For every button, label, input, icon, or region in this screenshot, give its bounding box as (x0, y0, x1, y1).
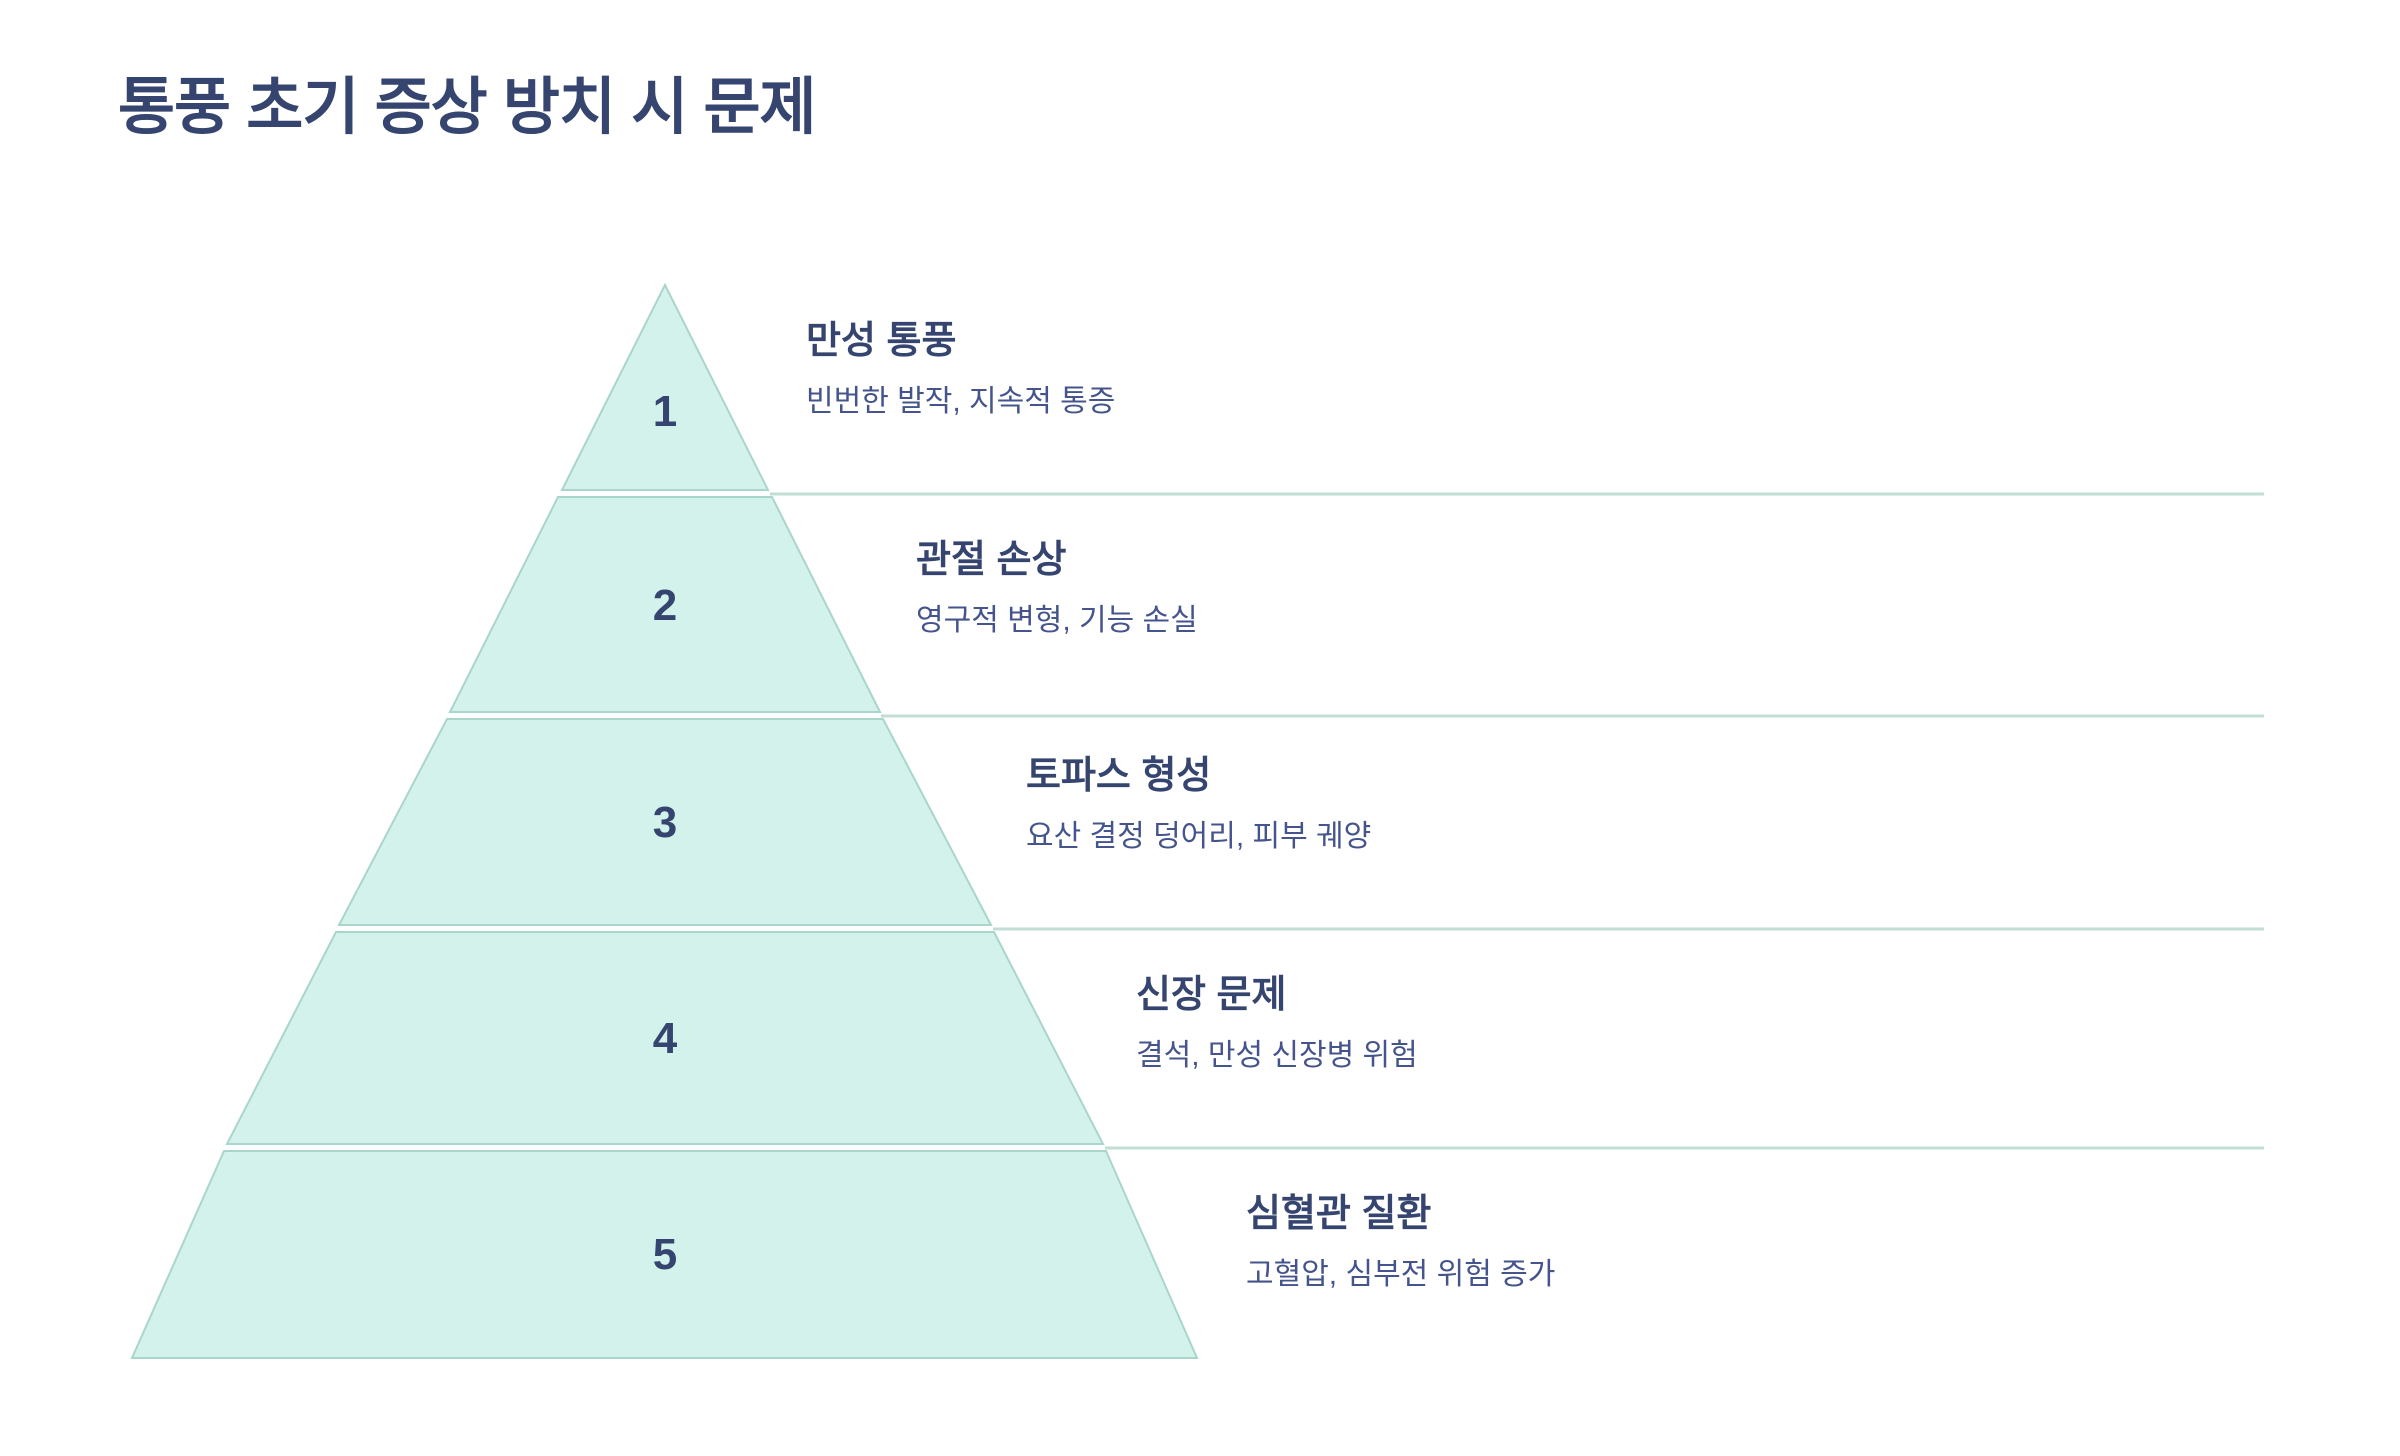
pyramid-tier-4-subtitle: 결석, 만성 신장병 위험 (1136, 1036, 1418, 1075)
pyramid-tier-1-number: 1 (605, 390, 725, 434)
pyramid-shapes (0, 0, 2400, 1456)
pyramid-tier-4-label[interactable]: 신장 문제 결석, 만성 신장병 위험 (1136, 972, 1418, 1075)
pyramid-tier-5-subtitle: 고혈압, 심부전 위험 증가 (1246, 1255, 1555, 1294)
pyramid-tier-2-label[interactable]: 관절 손상 영구적 변형, 기능 손실 (916, 537, 1198, 640)
pyramid-diagram: 1 2 3 4 5 만성 통풍 빈번한 발작, 지속적 통증 관절 손상 영구적… (0, 0, 2400, 1456)
pyramid-infographic-page: 통풍 초기 증상 방치 시 문제 1 2 3 4 5 만성 통풍 (0, 0, 2400, 1456)
pyramid-tier-5-number: 5 (605, 1233, 725, 1277)
pyramid-tier-3-number: 3 (605, 801, 725, 845)
pyramid-tier-5-label[interactable]: 심혈관 질환 고혈압, 심부전 위험 증가 (1246, 1191, 1555, 1294)
pyramid-tier-1-subtitle: 빈번한 발작, 지속적 통증 (806, 382, 1115, 421)
pyramid-tier-1-heading: 만성 통풍 (806, 318, 1115, 366)
pyramid-tier-3-subtitle: 요산 결정 덩어리, 피부 궤양 (1026, 817, 1371, 856)
pyramid-tier-3-label[interactable]: 토파스 형성 요산 결정 덩어리, 피부 궤양 (1026, 753, 1371, 856)
pyramid-tier-2-number: 2 (605, 584, 725, 628)
pyramid-tier-4-heading: 신장 문제 (1136, 972, 1418, 1020)
pyramid-tier-2-heading: 관절 손상 (916, 537, 1198, 585)
pyramid-tier-3-heading: 토파스 형성 (1026, 753, 1371, 801)
pyramid-tier-5-heading: 심혈관 질환 (1246, 1191, 1555, 1239)
pyramid-tier-1-label[interactable]: 만성 통풍 빈번한 발작, 지속적 통증 (806, 318, 1115, 421)
pyramid-tier-2-subtitle: 영구적 변형, 기능 손실 (916, 601, 1198, 640)
pyramid-tier-4-number: 4 (605, 1017, 725, 1061)
